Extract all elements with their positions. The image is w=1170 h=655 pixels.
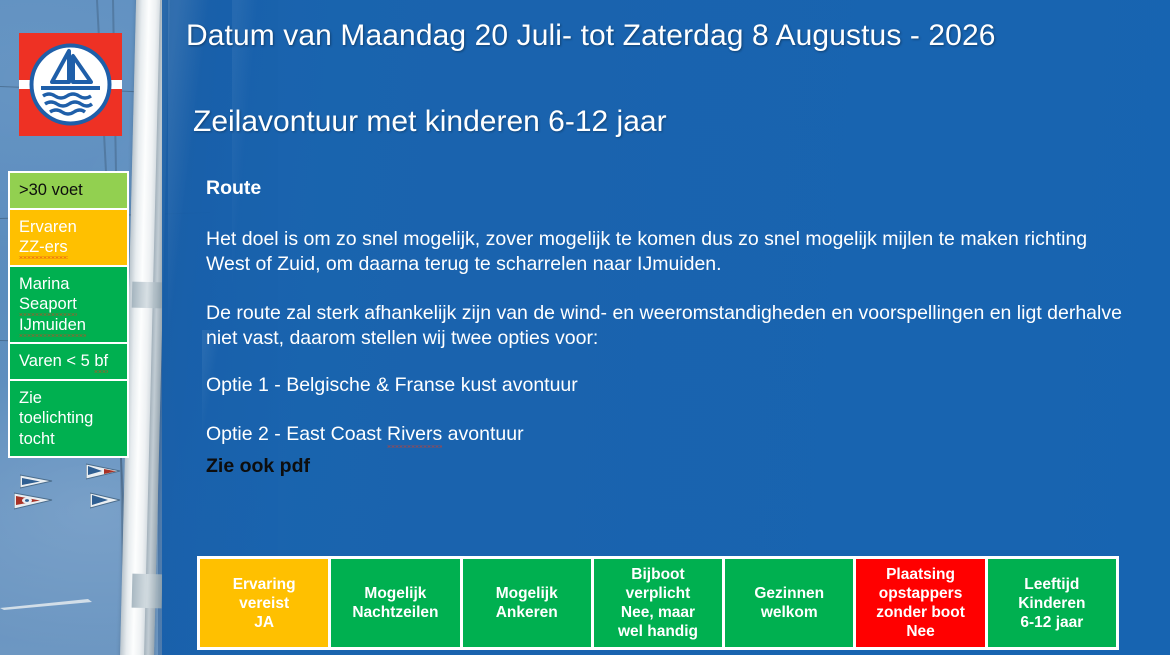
section-heading-route: Route	[206, 176, 1136, 201]
table-cell-experience-required[interactable]: Ervaring vereist JA	[200, 559, 331, 647]
sidebar-item-wind-limit[interactable]: Varen < 5 bf	[10, 344, 127, 381]
logo-sailboat-icon	[19, 33, 122, 136]
sidebar-item-label-line3: IJmuiden	[19, 316, 86, 337]
signal-pennant	[90, 490, 122, 510]
option-2-misspelled-word: Rivers	[387, 423, 442, 448]
table-cell-text: Ervaring vereist JA	[233, 575, 296, 632]
sidebar-item-trip-info[interactable]: Zie toelichting tocht	[10, 381, 127, 457]
table-cell-text: Leeftijd Kinderen 6-12 jaar	[1018, 575, 1085, 632]
body-content: Route Het doel is om zo snel mogelijk, z…	[206, 176, 1136, 471]
table-cell-age-children[interactable]: Leeftijd Kinderen 6-12 jaar	[988, 559, 1116, 647]
signal-pennant	[20, 473, 54, 491]
table-cell-text: Mogelijk Ankeren	[496, 584, 558, 622]
option-2-prefix: Optie 2 - East Coast	[206, 423, 387, 445]
sidebar-attribute-list: >30 voet Ervaren ZZ-ers Marina Seaport I…	[8, 171, 129, 458]
slide-title: Datum van Maandag 20 Juli- tot Zaterdag …	[186, 19, 996, 53]
table-cell-text: Mogelijk Nachtzeilen	[352, 584, 438, 622]
option-2-suffix: avontuur	[442, 423, 523, 445]
table-cell-text: Gezinnen welkom	[754, 584, 824, 622]
sailing-club-logo	[19, 33, 122, 136]
table-cell-text: Plaatsing opstappers zonder boot Nee	[876, 565, 965, 641]
see-also-pdf-note: Zie ook pdf	[206, 455, 310, 478]
sidebar-item-boat-length[interactable]: >30 voet	[10, 173, 127, 210]
mast-fitting	[132, 282, 163, 309]
paragraph-goal: Het doel is om zo snel mogelijk, zover m…	[206, 227, 1136, 277]
table-cell-dinghy-required[interactable]: Bijboot verplicht Nee, maar wel handig	[594, 559, 725, 647]
presentation-slide: >30 voet Ervaren ZZ-ers Marina Seaport I…	[0, 0, 1170, 655]
sidebar-item-label-line2: Seaport	[19, 295, 77, 316]
table-cell-night-sailing[interactable]: Mogelijk Nachtzeilen	[331, 559, 462, 647]
sidebar-item-label-unit: bf	[94, 352, 108, 373]
sidebar-item-label: Zie toelichting tocht	[19, 389, 93, 448]
sidebar-item-label-line1: Ervaren	[19, 218, 77, 236]
sidebar-item-experience[interactable]: Ervaren ZZ-ers	[10, 210, 127, 267]
sidebar-item-label: >30 voet	[19, 181, 83, 199]
slide-subtitle: Zeilavontuur met kinderen 6-12 jaar	[193, 105, 667, 139]
sidebar-item-label-line2: ZZ-ers	[19, 238, 68, 259]
attributes-table: Ervaring vereist JA Mogelijk Nachtzeilen…	[197, 556, 1119, 650]
mast-fitting	[132, 574, 163, 609]
sidebar-item-marina[interactable]: Marina Seaport IJmuiden	[10, 267, 127, 345]
option-2: Optie 2 - East Coast Rivers avontuur	[206, 422, 1136, 447]
boom-spar	[0, 597, 92, 611]
table-cell-anchoring[interactable]: Mogelijk Ankeren	[463, 559, 594, 647]
table-cell-crew-placement[interactable]: Plaatsing opstappers zonder boot Nee	[856, 559, 987, 647]
sidebar-item-label-prefix: Varen < 5	[19, 352, 94, 370]
table-cell-text: Bijboot verplicht Nee, maar wel handig	[618, 565, 698, 641]
sidebar-item-label-line1: Marina	[19, 275, 69, 293]
signal-pennant	[86, 462, 122, 482]
option-1: Optie 1 - Belgische & Franse kust avontu…	[206, 373, 1136, 398]
signal-pennant	[14, 490, 54, 512]
paragraph-route-conditions: De route zal sterk afhankelijk zijn van …	[206, 301, 1136, 351]
table-cell-families-welcome[interactable]: Gezinnen welkom	[725, 559, 856, 647]
